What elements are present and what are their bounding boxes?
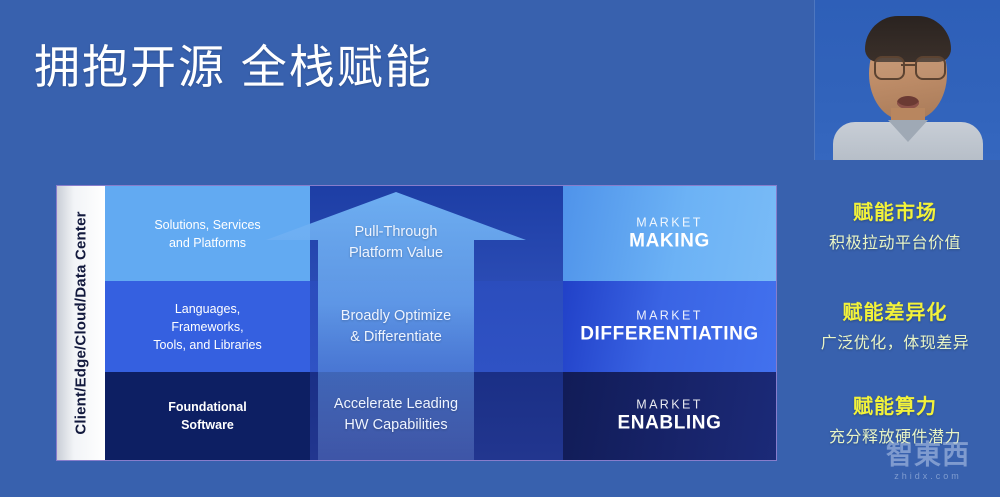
- tier-block-foundational: Foundational Software: [105, 372, 310, 460]
- market-block-differentiating: MARKET DIFFERENTIATING: [563, 281, 776, 372]
- market-title-enabling: ENABLING: [563, 413, 776, 435]
- page-title: 拥抱开源 全栈赋能: [34, 31, 433, 97]
- annotation-heading: 赋能算力: [790, 390, 1000, 419]
- watermark-url: zhidx.com: [862, 471, 994, 481]
- annotation-sub: 积极拉动平台价值: [790, 229, 1000, 253]
- glasses-bridge-icon: [901, 64, 915, 66]
- axis-label-strip: Client/Edge/Cloud/Data Center: [57, 186, 105, 460]
- axis-label-text: Client/Edge/Cloud/Data Center: [73, 211, 90, 434]
- tier-label-line2: Software: [181, 418, 234, 432]
- market-eyebrow-enabling: MARKET: [563, 398, 776, 412]
- tier-block-languages: Languages, Frameworks, Tools, and Librar…: [105, 281, 310, 372]
- middle-band-row2: [310, 281, 563, 372]
- middle-band-row3: [310, 372, 563, 460]
- tier-label-line1: Languages,: [175, 301, 240, 315]
- diagram-row-market-enabling: Foundational Software MARKET ENABLING: [105, 372, 776, 460]
- market-block-enabling: MARKET ENABLING: [563, 372, 776, 460]
- annotation-heading: 赋能市场: [790, 196, 1000, 225]
- market-label-enabling: MARKET ENABLING: [563, 398, 776, 435]
- market-block-making: MARKET MAKING: [563, 186, 776, 281]
- diagram-row-market-differentiating: Languages, Frameworks, Tools, and Librar…: [105, 281, 776, 372]
- tier-label-solutions: Solutions, Services and Platforms: [105, 215, 310, 251]
- annotation-heading: 赋能差异化: [790, 296, 1000, 325]
- watermark-logo-text: 智東西: [862, 442, 994, 469]
- market-eyebrow-differentiating: MARKET: [563, 308, 776, 322]
- glasses-right-lens-icon: [915, 56, 946, 80]
- tier-label-line2: and Platforms: [169, 236, 246, 250]
- presenter-video-tile[interactable]: [814, 0, 1000, 160]
- market-label-making: MARKET MAKING: [563, 215, 776, 252]
- tier-label-languages: Languages, Frameworks, Tools, and Librar…: [105, 299, 310, 353]
- glasses-left-lens-icon: [874, 56, 905, 80]
- annotation-market-differentiating: 赋能差异化 广泛优化，体现差异: [790, 296, 1000, 353]
- annotation-group: 赋能市场 积极拉动平台价值 赋能差异化 广泛优化，体现差异 赋能算力 充分释放硬…: [790, 186, 1000, 460]
- annotation-market-enabling: 赋能算力 充分释放硬件潜力: [790, 390, 1000, 447]
- annotation-sub: 广泛优化，体现差异: [790, 329, 1000, 353]
- tier-label-line1: Foundational: [168, 400, 246, 414]
- diagram-rows: Solutions, Services and Platforms MARKET…: [105, 186, 776, 460]
- tier-label-line1: Solutions, Services: [154, 217, 260, 231]
- tier-block-solutions: Solutions, Services and Platforms: [105, 186, 310, 281]
- market-title-making: MAKING: [563, 230, 776, 252]
- annotation-market-making: 赋能市场 积极拉动平台价值: [790, 196, 1000, 253]
- tier-label-foundational: Foundational Software: [105, 398, 310, 434]
- market-eyebrow-making: MARKET: [563, 215, 776, 229]
- tier-label-line2: Frameworks,: [171, 319, 243, 333]
- presenter-collar: [888, 120, 928, 142]
- diagram-row-market-making: Solutions, Services and Platforms MARKET…: [105, 186, 776, 281]
- market-label-differentiating: MARKET DIFFERENTIATING: [563, 308, 776, 345]
- slide-canvas: 拥抱开源 全栈赋能 Client/Edge/Cloud/Data Center …: [0, 0, 1000, 497]
- tier-label-line3: Tools, and Libraries: [153, 338, 261, 352]
- stack-diagram: Client/Edge/Cloud/Data Center Solutions,…: [57, 186, 776, 460]
- middle-band-row1: [310, 186, 563, 281]
- market-title-differentiating: DIFFERENTIATING: [563, 323, 776, 345]
- watermark: 智東西 zhidx.com: [862, 442, 994, 481]
